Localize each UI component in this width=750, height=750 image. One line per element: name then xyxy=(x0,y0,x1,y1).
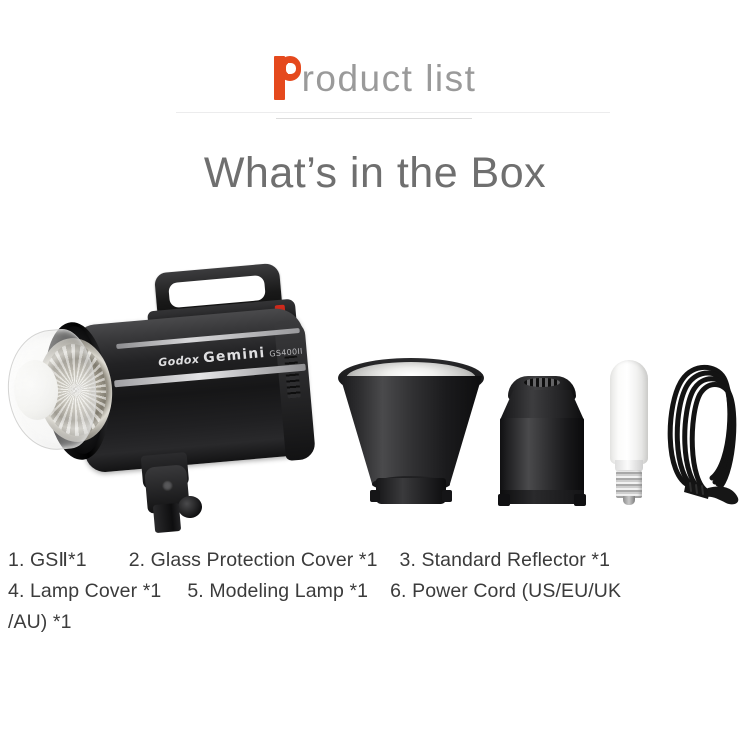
caption-item-5: 5. Modeling Lamp *1 xyxy=(187,576,368,607)
flash-model-code: GS400II xyxy=(269,347,303,359)
product-lamp-cover xyxy=(494,376,590,506)
product-caption-list: 1. GSⅡ*12. Glass Protection Cover *13. S… xyxy=(8,545,750,638)
page-header: roduct list xyxy=(0,56,750,102)
flash-mount-shaft xyxy=(153,503,181,533)
product-flash-head: GodoxGeminiGS400II xyxy=(8,268,338,533)
modeling-lamp-screw-base xyxy=(616,470,642,498)
header-divider-narrow xyxy=(276,118,472,119)
reflector-mount xyxy=(376,478,446,504)
lamp-cover-vent xyxy=(524,378,560,387)
flash-brand-name: Godox xyxy=(158,353,200,370)
product-list-page: roduct list What’s in the Box GodoxGemin… xyxy=(0,0,750,750)
caption-item-2: 2. Glass Protection Cover *1 xyxy=(129,545,378,576)
product-power-cord xyxy=(660,358,746,506)
lamp-cover-foot-left xyxy=(498,494,510,506)
page-title-text: roduct list xyxy=(302,58,477,99)
logo-notch xyxy=(288,63,296,74)
reflector-tab-left xyxy=(370,490,380,502)
caption-line-3: /AU) *1 xyxy=(8,607,750,638)
caption-item-4: 4. Lamp Cover *1 xyxy=(8,576,161,607)
lamp-cover-base xyxy=(500,490,584,504)
lamp-cover-foot-right xyxy=(574,494,586,506)
modeling-lamp-glass xyxy=(610,360,648,464)
lamp-cover-shoulder xyxy=(500,390,584,420)
brand-p-logo-icon xyxy=(274,56,301,100)
subtitle: What’s in the Box xyxy=(0,147,750,199)
product-standard-reflector xyxy=(336,358,486,506)
reflector-cone xyxy=(340,376,482,486)
caption-item-6: 6. Power Cord (US/EU/UK xyxy=(390,576,621,607)
flash-tilt-knob xyxy=(177,495,203,519)
header-divider-wide xyxy=(176,112,610,113)
modeling-lamp-contact-tip xyxy=(623,496,635,505)
power-cord-drawing xyxy=(660,358,746,506)
page-title: roduct list xyxy=(274,56,477,102)
power-cord-plug-head xyxy=(707,486,738,504)
lamp-cover-barrel xyxy=(500,418,584,498)
caption-item-1: 1. GSⅡ*1 xyxy=(8,545,87,576)
product-modeling-lamp xyxy=(602,360,656,506)
product-photo: GodoxGeminiGS400II xyxy=(0,248,750,533)
caption-line-2: 4. Lamp Cover *15. Modeling Lamp *16. Po… xyxy=(8,576,750,607)
caption-line-1: 1. GSⅡ*12. Glass Protection Cover *13. S… xyxy=(8,545,750,576)
reflector-tab-right xyxy=(442,490,452,502)
caption-item-3: 3. Standard Reflector *1 xyxy=(400,545,611,576)
